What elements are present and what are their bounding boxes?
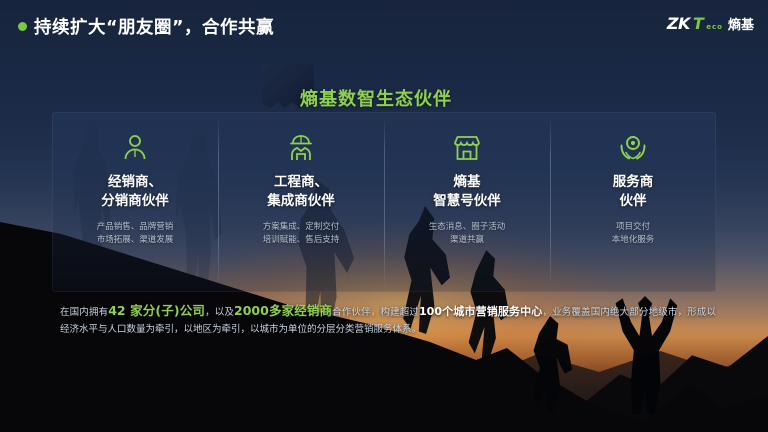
slide-header: 持续扩大“朋友圈”，合作共赢	[0, 0, 768, 52]
page-title: 持续扩大“朋友圈”，合作共赢	[34, 14, 274, 39]
logo-t-text: T	[693, 14, 703, 33]
card-subtitle: 生态消息、圈子活动 渠道共赢	[429, 221, 506, 247]
para-seg-1: 在国内拥有	[60, 307, 108, 318]
card-subtitle: 产品销售、品牌营销 市场拓展、渠道发展	[97, 221, 174, 247]
partner-card-service[interactable]: 服务商 伙伴 项目交付 本地化服务	[550, 112, 716, 292]
slide-root: 持续扩大“朋友圈”，合作共赢 ZK T eco 熵基 熵基数智生态伙伴 经销商、…	[0, 0, 768, 432]
partner-card-distributor[interactable]: 经销商、 分销商伙伴 产品销售、品牌营销 市场拓展、渠道发展	[52, 112, 218, 292]
storefront-icon	[451, 132, 483, 164]
card-subtitle: 方案集成、定制交付 培训赋能、售后支持	[263, 221, 340, 247]
partner-person-icon	[119, 132, 151, 164]
engineer-helmet-icon	[285, 132, 317, 164]
stat-branch-count: 42 家分(子)公司	[108, 303, 205, 318]
banner-title: 熵基数智生态伙伴	[300, 85, 452, 111]
summary-paragraph: 在国内拥有42 家分(子)公司，以及2000多家经销商合作伙伴，构建超过100个…	[60, 300, 716, 339]
para-seg-2: ，以及	[205, 307, 234, 318]
logo-cn-text: 熵基	[728, 14, 754, 33]
card-title: 服务商 伙伴	[613, 173, 654, 210]
service-hands-icon	[617, 132, 649, 164]
card-subtitle: 项目交付 本地化服务	[612, 221, 655, 247]
stat-city-center-count: 100个城市营销服务中心	[419, 305, 542, 318]
stat-dealer-count: 2000多家经销商	[234, 303, 332, 318]
bullet-dot-icon	[18, 22, 27, 31]
card-title: 熵基 智慧号伙伴	[433, 173, 501, 210]
partner-card-panel: 经销商、 分销商伙伴 产品销售、品牌营销 市场拓展、渠道发展 工程商、 集成商伙…	[52, 112, 716, 292]
logo-zk-text: ZK	[667, 14, 690, 33]
partner-card-smart-account[interactable]: 熵基 智慧号伙伴 生态消息、圈子活动 渠道共赢	[384, 112, 550, 292]
logo-eco-text: eco	[706, 23, 723, 31]
para-seg-3: 合作伙伴，构建超过	[332, 307, 419, 318]
card-title: 工程商、 集成商伙伴	[267, 173, 335, 210]
zkteco-logo: ZK T eco 熵基	[667, 14, 754, 33]
partner-card-integrator[interactable]: 工程商、 集成商伙伴 方案集成、定制交付 培训赋能、售后支持	[218, 112, 384, 292]
card-title: 经销商、 分销商伙伴	[101, 173, 169, 210]
